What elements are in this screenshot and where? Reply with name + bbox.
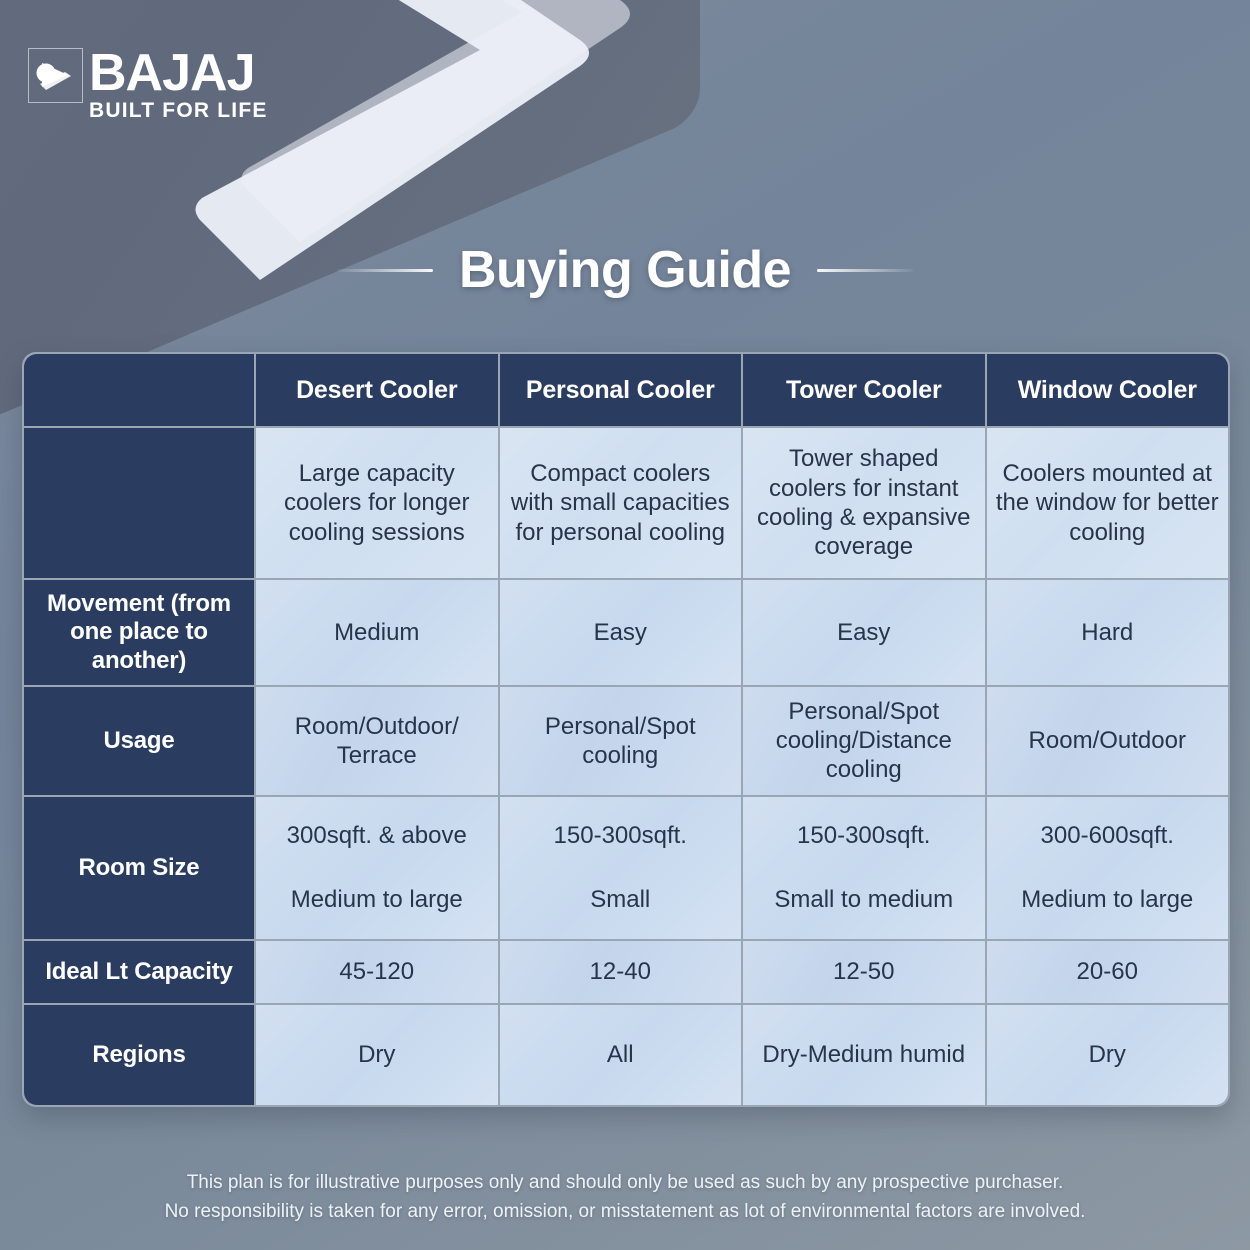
brand-logo: BAJAJ BUILT FOR LIFE	[28, 48, 268, 121]
cell-room-size-personal-line2: Small	[508, 885, 734, 914]
cell-room-size-personal: 150-300sqft. Small	[500, 797, 742, 939]
cell-room-size-tower: 150-300sqft. Small to medium	[743, 797, 985, 939]
brand-name: BAJAJ	[89, 49, 268, 98]
cell-usage-desert: Room/Outdoor/ Terrace	[256, 687, 498, 795]
cell-usage-tower: Personal/Spot cooling/Distance cooling	[743, 687, 985, 795]
row-label-usage: Usage	[24, 687, 254, 795]
cell-movement-window: Hard	[987, 580, 1229, 685]
table-row: Large capacity coolers for longer coolin…	[24, 428, 1228, 578]
cell-regions-desert: Dry	[256, 1005, 498, 1105]
cell-capacity-tower: 12-50	[743, 941, 985, 1003]
footer-disclaimer-line1: This plan is for illustrative purposes o…	[0, 1168, 1250, 1197]
buying-guide-table-wrap: Desert Cooler Personal Cooler Tower Cool…	[22, 352, 1230, 1107]
table-row: Usage Room/Outdoor/ Terrace Personal/Spo…	[24, 687, 1228, 795]
column-header-desert-cooler: Desert Cooler	[256, 354, 498, 426]
cell-movement-personal: Easy	[500, 580, 742, 685]
row-label-description	[24, 428, 254, 578]
cell-room-size-desert: 300sqft. & above Medium to large	[256, 797, 498, 939]
page-title-row: Buying Guide	[0, 240, 1250, 300]
cell-usage-personal: Personal/Spot cooling	[500, 687, 742, 795]
cell-room-size-personal-line1: 150-300sqft.	[508, 821, 734, 850]
buying-guide-table: Desert Cooler Personal Cooler Tower Cool…	[22, 352, 1230, 1107]
bajaj-arrow-icon	[28, 48, 83, 103]
cell-capacity-personal: 12-40	[500, 941, 742, 1003]
cell-room-size-window-line1: 300-600sqft.	[995, 821, 1221, 850]
cell-description-desert: Large capacity coolers for longer coolin…	[256, 428, 498, 578]
row-label-room-size: Room Size	[24, 797, 254, 939]
cell-room-size-desert-line2: Medium to large	[264, 885, 490, 914]
row-label-movement: Movement (from one place to another)	[24, 580, 254, 685]
table-row: Movement (from one place to another) Med…	[24, 580, 1228, 685]
row-label-ideal-lt-capacity: Ideal Lt Capacity	[24, 941, 254, 1003]
cell-room-size-window: 300-600sqft. Medium to large	[987, 797, 1229, 939]
cell-room-size-window-line2: Medium to large	[995, 885, 1221, 914]
title-rule-right	[817, 269, 913, 272]
cell-movement-tower: Easy	[743, 580, 985, 685]
cell-regions-personal: All	[500, 1005, 742, 1105]
cell-room-size-tower-line1: 150-300sqft.	[751, 821, 977, 850]
column-header-tower-cooler: Tower Cooler	[743, 354, 985, 426]
cell-room-size-tower-line2: Small to medium	[751, 885, 977, 914]
table-row: Ideal Lt Capacity 45-120 12-40 12-50 20-…	[24, 941, 1228, 1003]
table-header-row: Desert Cooler Personal Cooler Tower Cool…	[24, 354, 1228, 426]
table-row: Regions Dry All Dry-Medium humid Dry	[24, 1005, 1228, 1105]
cell-capacity-window: 20-60	[987, 941, 1229, 1003]
cell-description-personal: Compact coolers with small capacities fo…	[500, 428, 742, 578]
footer-disclaimer: This plan is for illustrative purposes o…	[0, 1168, 1250, 1227]
cell-room-size-desert-line1: 300sqft. & above	[264, 821, 490, 850]
cell-capacity-desert: 45-120	[256, 941, 498, 1003]
column-header-window-cooler: Window Cooler	[987, 354, 1229, 426]
cell-regions-tower: Dry-Medium humid	[743, 1005, 985, 1105]
cell-movement-desert: Medium	[256, 580, 498, 685]
table-row: Room Size 300sqft. & above Medium to lar…	[24, 797, 1228, 939]
page-title: Buying Guide	[459, 240, 791, 300]
column-header-personal-cooler: Personal Cooler	[500, 354, 742, 426]
cell-description-window: Coolers mounted at the window for better…	[987, 428, 1229, 578]
row-label-regions: Regions	[24, 1005, 254, 1105]
brand-tagline: BUILT FOR LIFE	[89, 100, 268, 121]
footer-disclaimer-line2: No responsibility is taken for any error…	[0, 1197, 1250, 1226]
cell-usage-window: Room/Outdoor	[987, 687, 1229, 795]
header-corner-cell	[24, 354, 254, 426]
title-rule-left	[337, 269, 433, 272]
cell-regions-window: Dry	[987, 1005, 1229, 1105]
cell-description-tower: Tower shaped coolers for instant cooling…	[743, 428, 985, 578]
